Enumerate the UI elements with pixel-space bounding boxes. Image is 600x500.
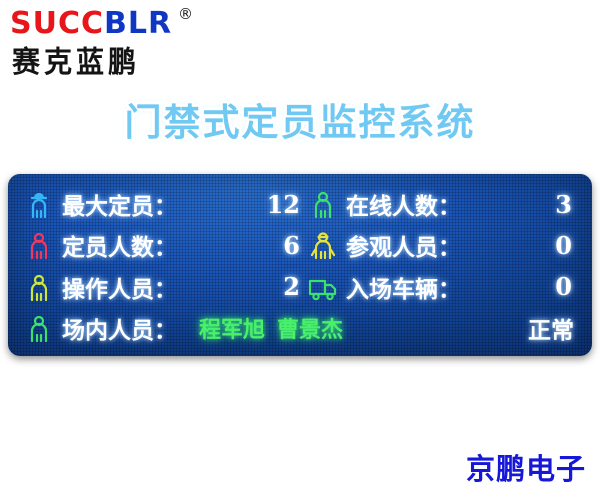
led-value-max-capacity: 12: [267, 190, 306, 219]
led-row: 操作人员： 2 入场车辆： 0: [22, 267, 578, 307]
led-cell-vehicle-count: 入场车辆： 0: [306, 270, 578, 304]
brand-latin-red: SUCC: [10, 6, 104, 41]
led-value-visitor-count: 0: [555, 231, 578, 260]
onsite-name-1: 程军旭: [199, 318, 265, 343]
brand-latin-blue: BLR: [104, 6, 172, 41]
led-row: 定员人数： 6 参观人员： 0: [22, 225, 578, 265]
person-green-icon: [306, 188, 340, 220]
brand-chinese-wordmark: 赛克蓝鹏: [12, 39, 140, 81]
led-cell-max-capacity: 最大定员： 12: [22, 187, 306, 221]
onsite-name-2: 曹景杰: [277, 318, 343, 343]
led-display-board: 最大定员： 12 在线人数： 3: [8, 174, 592, 356]
footer-company-logo: 京鹏电子: [466, 446, 586, 488]
led-cell-visitor-count: 参观人员： 0: [306, 228, 578, 262]
led-row: 最大定员： 12 在线人数： 3: [22, 184, 578, 224]
led-label-vehicle-count: 入场车辆：: [346, 270, 461, 304]
led-value-vehicle-count: 0: [555, 272, 578, 301]
page-title: 门禁式定员监控系统: [0, 92, 600, 146]
registered-trademark-icon: ®: [178, 5, 193, 23]
led-row: 场内人员： 程军旭曹景杰 正常: [22, 308, 578, 348]
brand-latin-wordmark: SUCCBLR: [10, 8, 172, 40]
led-value-onsite-names: 程军旭曹景杰: [199, 312, 343, 344]
person-onsite-icon: [22, 312, 56, 344]
person-visitor-icon: [306, 229, 340, 261]
led-label-operator-count: 操作人员：: [62, 270, 177, 304]
led-value-quota-count: 6: [283, 231, 306, 260]
company-logo: SUCCBLR ® 赛克蓝鹏: [8, 4, 238, 74]
led-label-visitor-count: 参观人员：: [346, 228, 461, 262]
led-cell-onsite-personnel: 场内人员： 程军旭曹景杰 正常: [22, 311, 578, 345]
led-cell-online-count: 在线人数： 3: [306, 187, 578, 221]
led-cell-operator-count: 操作人员： 2: [22, 270, 306, 304]
led-value-operator-count: 2: [283, 272, 306, 301]
person-operator-icon: [22, 271, 56, 303]
led-label-quota-count: 定员人数：: [62, 228, 177, 262]
led-value-online-count: 3: [555, 190, 578, 219]
led-cell-quota-count: 定员人数： 6: [22, 228, 306, 262]
truck-icon: [306, 271, 340, 303]
led-label-max-capacity: 最大定员：: [62, 187, 177, 221]
person-hardhat-icon: [22, 188, 56, 220]
led-label-onsite-personnel: 场内人员：: [62, 311, 177, 345]
led-label-online-count: 在线人数：: [346, 187, 461, 221]
status-badge: 正常: [528, 311, 578, 345]
person-red-icon: [22, 229, 56, 261]
